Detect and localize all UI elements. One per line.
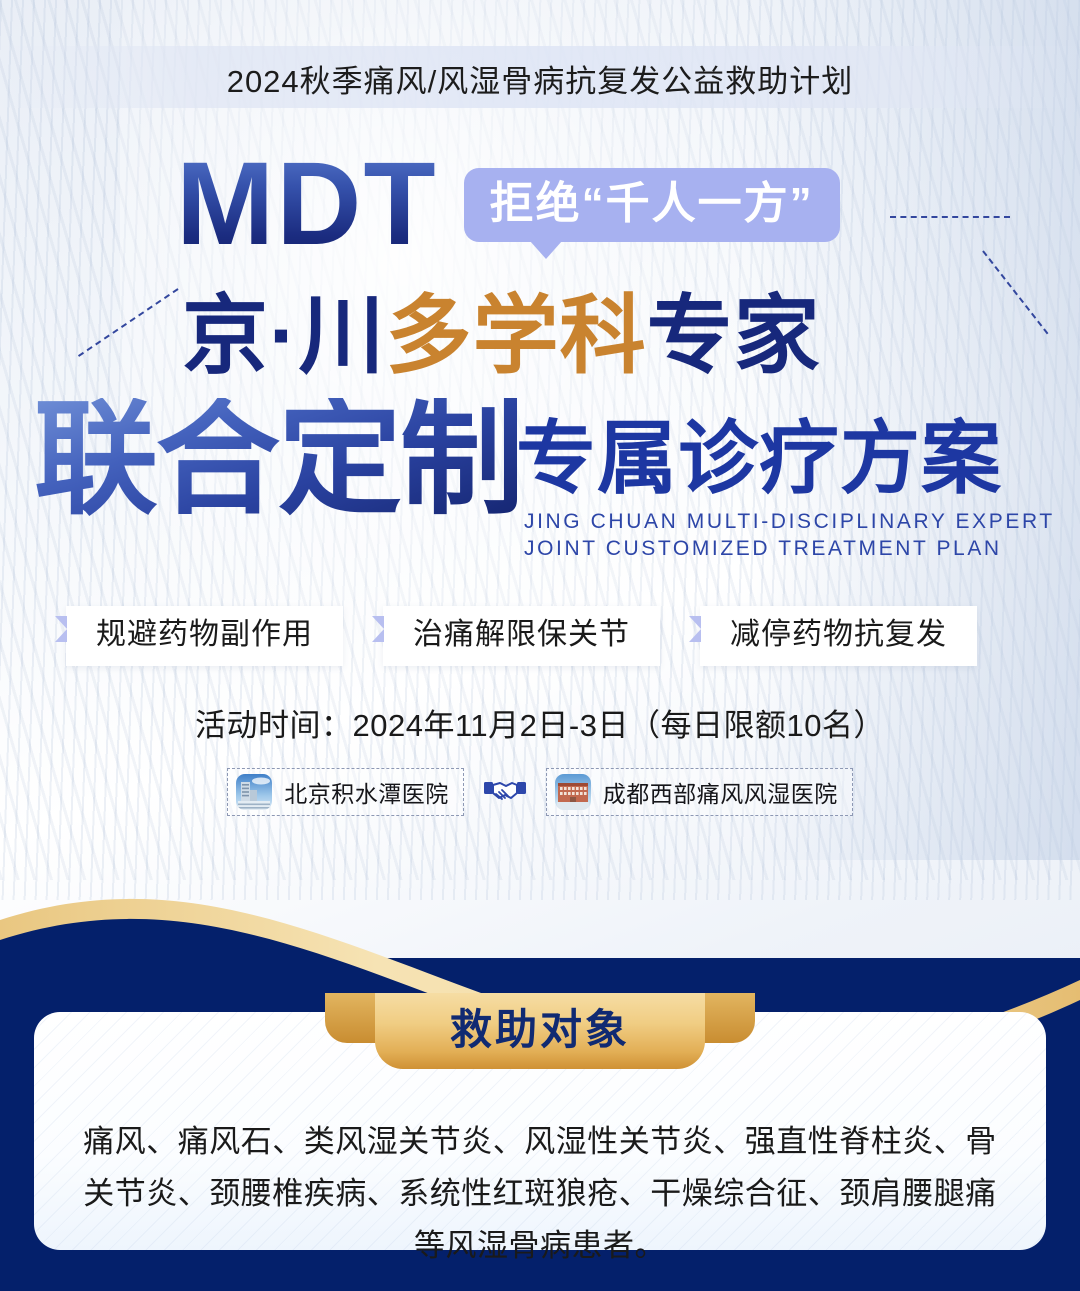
handshake-icon-svg [482, 775, 528, 809]
page-kicker-title: 2024秋季痛风/风湿骨病抗复发公益救助计划 [0, 56, 1080, 101]
hero-line2-part2: 多学科 [386, 288, 647, 384]
hero-line2-part1: 京·川 [182, 288, 386, 384]
tag-arrow-icon [55, 616, 67, 642]
feature-tag: 治痛解限保关节 [383, 606, 660, 666]
hero-line2: 京·川多学科专家 [182, 288, 821, 384]
hospital-partner-row: 北京积水潭医院 [0, 768, 1080, 816]
hero-english-subtitle-line1: JING CHUAN MULTI-DISCIPLINARY EXPERT [524, 508, 1055, 535]
aid-section-body-text: 痛风、痛风石、类风湿关节炎、风湿性关节炎、强直性脊柱炎、骨关节炎、颈腰椎疾病、系… [34, 1116, 1046, 1272]
feature-tag: 规避药物副作用 [66, 606, 343, 666]
dashed-line-right-diagonal-decoration [982, 250, 1048, 334]
dashed-line-right-horizontal-decoration [890, 216, 1010, 218]
hero-mdt-row: MDT 拒绝“千人一方” [176, 148, 840, 260]
poster-root: 2024秋季痛风/风湿骨病抗复发公益救助计划 MDT 拒绝“千人一方” 京·川多… [0, 0, 1080, 1291]
hero-speech-bubble-text: 拒绝“千人一方” [490, 180, 814, 228]
event-time-text: 活动时间：2024年11月2日-3日（每日限额10名） [0, 700, 1080, 745]
hero-mdt-word: MDT [176, 148, 438, 260]
hospital-name-left: 北京积水潭医院 [284, 775, 449, 809]
hero-speech-bubble: 拒绝“千人一方” [464, 168, 840, 242]
dashed-line-left-decoration [78, 288, 179, 357]
hero-line2-part3: 专家 [647, 288, 821, 384]
hero-english-subtitle-line2: JOINT CUSTOMIZED TREATMENT PLAN [524, 535, 1055, 562]
tag-arrow-icon [689, 616, 701, 642]
feature-tag-label: 减停药物抗复发 [730, 617, 947, 653]
feature-tag-list: 规避药物副作用 治痛解限保关节 减停药物抗复发 [66, 606, 977, 666]
feature-tag-label: 治痛解限保关节 [413, 617, 630, 653]
hospital-name-right: 成都西部痛风风湿医院 [603, 775, 838, 809]
hero-line3-outline-text: 联合定制 [34, 398, 522, 524]
speech-bubble-tail-icon [530, 241, 562, 259]
hero-english-subtitle: JING CHUAN MULTI-DISCIPLINARY EXPERT JOI… [524, 508, 1055, 562]
feature-tag: 减停药物抗复发 [700, 606, 977, 666]
aid-section-title: 救助对象 [325, 1005, 755, 1055]
hospital-building-photo-svg [555, 774, 591, 810]
hero-line3-solid-text: 专属诊疗方案 [516, 415, 1002, 503]
hospital-building-photo-icon [555, 774, 591, 810]
hospital-badge-right: 成都西部痛风风湿医院 [546, 768, 853, 816]
aid-section-ribbon: 救助对象 [325, 993, 755, 1069]
hospital-building-photo-svg [236, 774, 272, 810]
hospital-badge-left: 北京积水潭医院 [227, 768, 464, 816]
handshake-icon [482, 775, 528, 809]
hospital-building-photo-icon [236, 774, 272, 810]
tag-arrow-icon [372, 616, 384, 642]
feature-tag-label: 规避药物副作用 [96, 617, 313, 653]
